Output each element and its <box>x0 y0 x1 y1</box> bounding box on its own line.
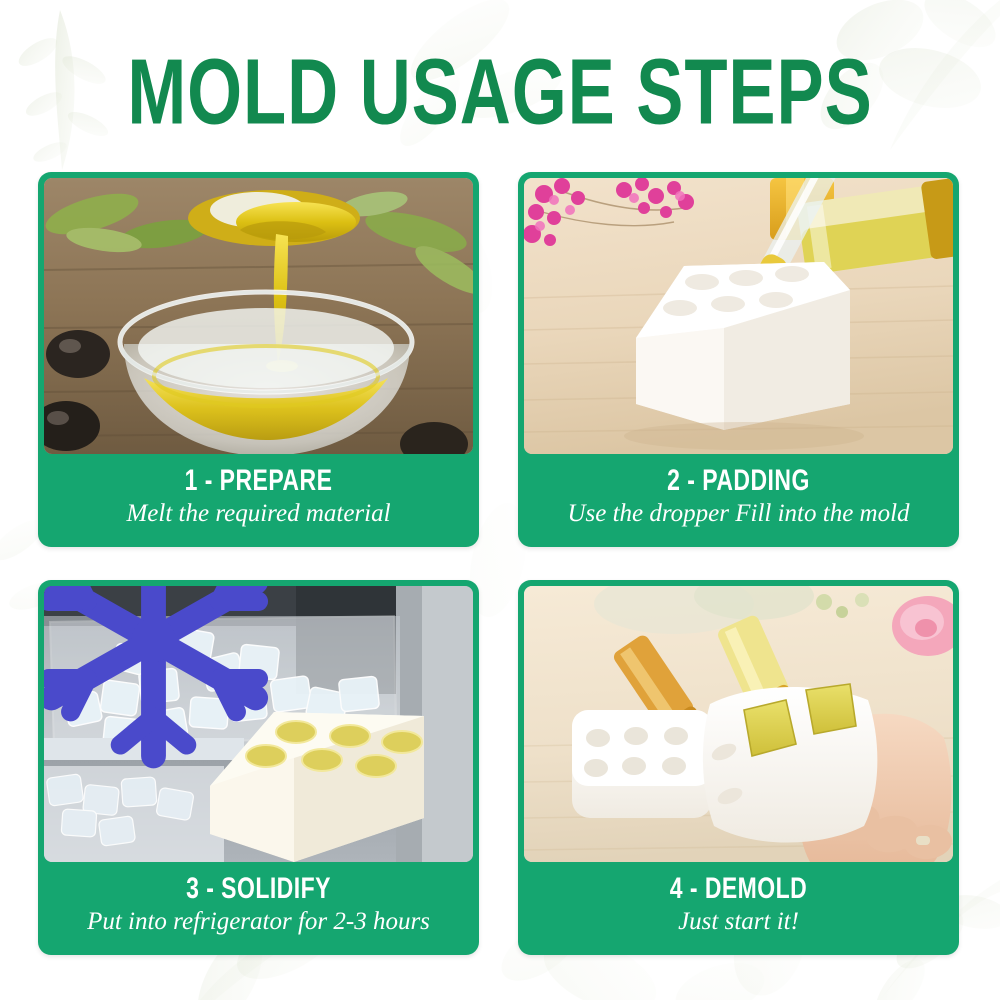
step-card-padding[interactable]: 2 - PADDING Use the dropper Fill into th… <box>518 172 959 547</box>
step-subtitle: Just start it! <box>530 907 947 937</box>
step-title: 4 - DEMOLD <box>547 873 931 905</box>
step-card-solidify[interactable]: 3 - SOLIDIFY Put into refrigerator for 2… <box>38 580 479 955</box>
steps-grid: 1 - PREPARE Melt the required material <box>38 172 959 955</box>
photo-dropper-filling-silicone-mold <box>524 178 953 454</box>
page-title: MOLD USAGE STEPS <box>35 44 965 142</box>
photo-filled-mold-in-freezer-with-ice <box>44 586 473 862</box>
step-subtitle: Put into refrigerator for 2-3 hours <box>50 907 467 937</box>
caption-prepare: 1 - PREPARE Melt the required material <box>44 454 473 547</box>
step-card-prepare[interactable]: 1 - PREPARE Melt the required material <box>38 172 479 547</box>
step-title: 1 - PREPARE <box>67 465 451 497</box>
caption-solidify: 3 - SOLIDIFY Put into refrigerator for 2… <box>44 862 473 955</box>
step-title: 3 - SOLIDIFY <box>67 873 451 905</box>
step-title: 2 - PADDING <box>547 465 931 497</box>
caption-demold: 4 - DEMOLD Just start it! <box>524 862 953 955</box>
page-title-container: MOLD USAGE STEPS <box>0 44 1000 124</box>
caption-padding: 2 - PADDING Use the dropper Fill into th… <box>524 454 953 547</box>
step-card-demold[interactable]: 4 - DEMOLD Just start it! <box>518 580 959 955</box>
snowflake-icon <box>44 586 368 778</box>
photo-olive-oil-pouring-into-glass-bowl <box>44 178 473 454</box>
photo-hand-demolding-silicone-mold <box>524 586 953 862</box>
step-subtitle: Use the dropper Fill into the mold <box>530 499 947 529</box>
step-subtitle: Melt the required material <box>50 499 467 529</box>
